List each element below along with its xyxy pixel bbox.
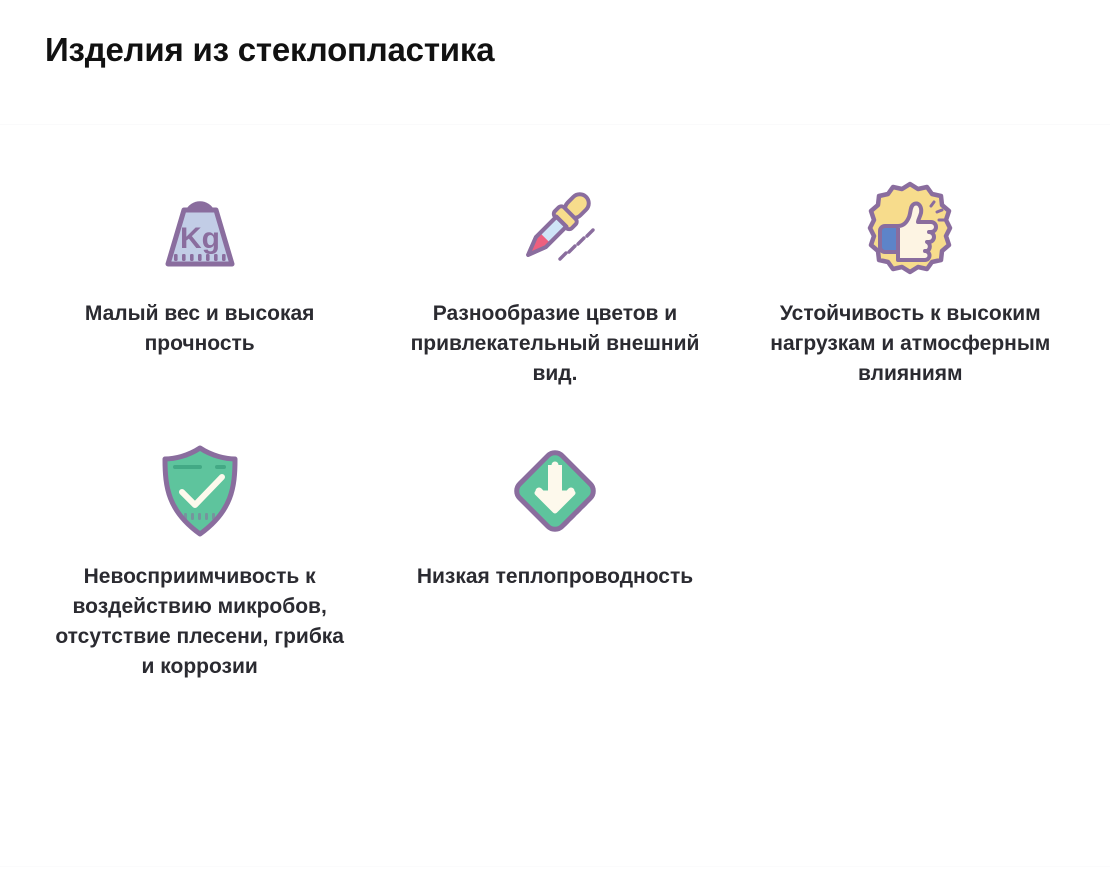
- thumbs-up-badge-icon: [855, 173, 965, 283]
- features-row-top: Kg Малый вес и высокая прочность: [22, 125, 1088, 388]
- feature-label: Малый вес и высокая прочность: [50, 299, 350, 359]
- feature-card-low-weight: Kg Малый вес и высокая прочность: [22, 125, 377, 388]
- feature-card-low-conductivity: Низкая теплопроводность: [377, 388, 732, 681]
- page-header: Изделия из стеклопластика: [0, 0, 1110, 124]
- feature-card-load-resistance: Устойчивость к высоким нагрузкам и атмос…: [733, 125, 1088, 388]
- diamond-down-arrow-icon: [500, 436, 610, 546]
- shield-check-icon: [145, 436, 255, 546]
- features-section: Kg Малый вес и высокая прочность: [0, 125, 1110, 682]
- feature-label: Устойчивость к высоким нагрузкам и атмос…: [760, 299, 1060, 388]
- bottom-divider: [0, 866, 1110, 867]
- feature-label: Невосприимчивость к воздействию микробов…: [50, 562, 350, 681]
- feature-label: Разнообразие цветов и привлекательный вн…: [405, 299, 705, 388]
- page-title: Изделия из стеклопластика: [45, 30, 1110, 70]
- feature-label: Низкая теплопроводность: [417, 562, 693, 592]
- feature-card-microbe-resistance: Невосприимчивость к воздействию микробов…: [22, 388, 377, 681]
- weight-kg-icon: Kg: [145, 173, 255, 283]
- feature-card-color-variety: Разнообразие цветов и привлекательный вн…: [377, 125, 732, 388]
- features-row-bottom: Невосприимчивость к воздействию микробов…: [22, 388, 1088, 681]
- pipette-dropper-icon: [500, 173, 610, 283]
- svg-text:Kg: Kg: [180, 222, 220, 255]
